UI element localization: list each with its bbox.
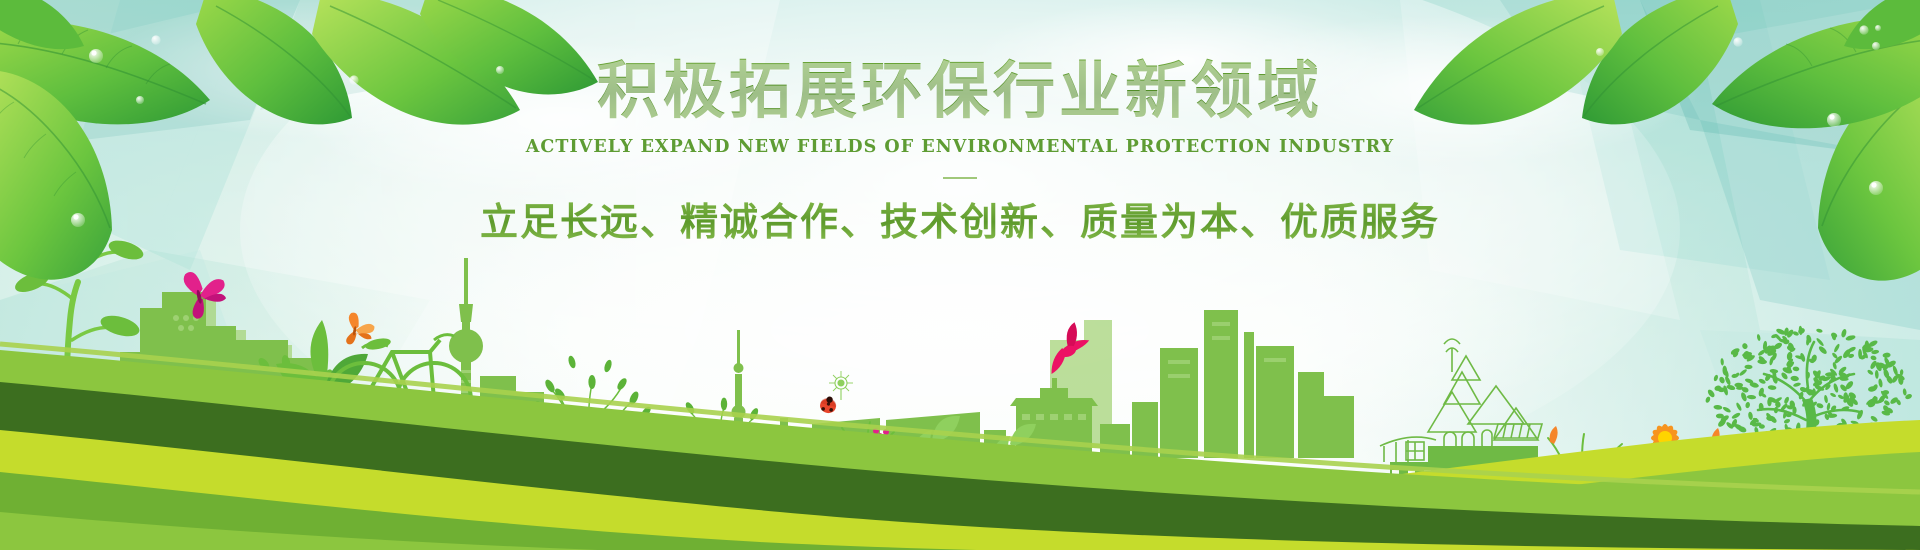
leaf-cluster-top-right: [0, 0, 1920, 550]
eco-banner: 积极拓展环保行业新领域 ACTIVELY EXPAND NEW FIELDS O…: [0, 0, 1920, 550]
